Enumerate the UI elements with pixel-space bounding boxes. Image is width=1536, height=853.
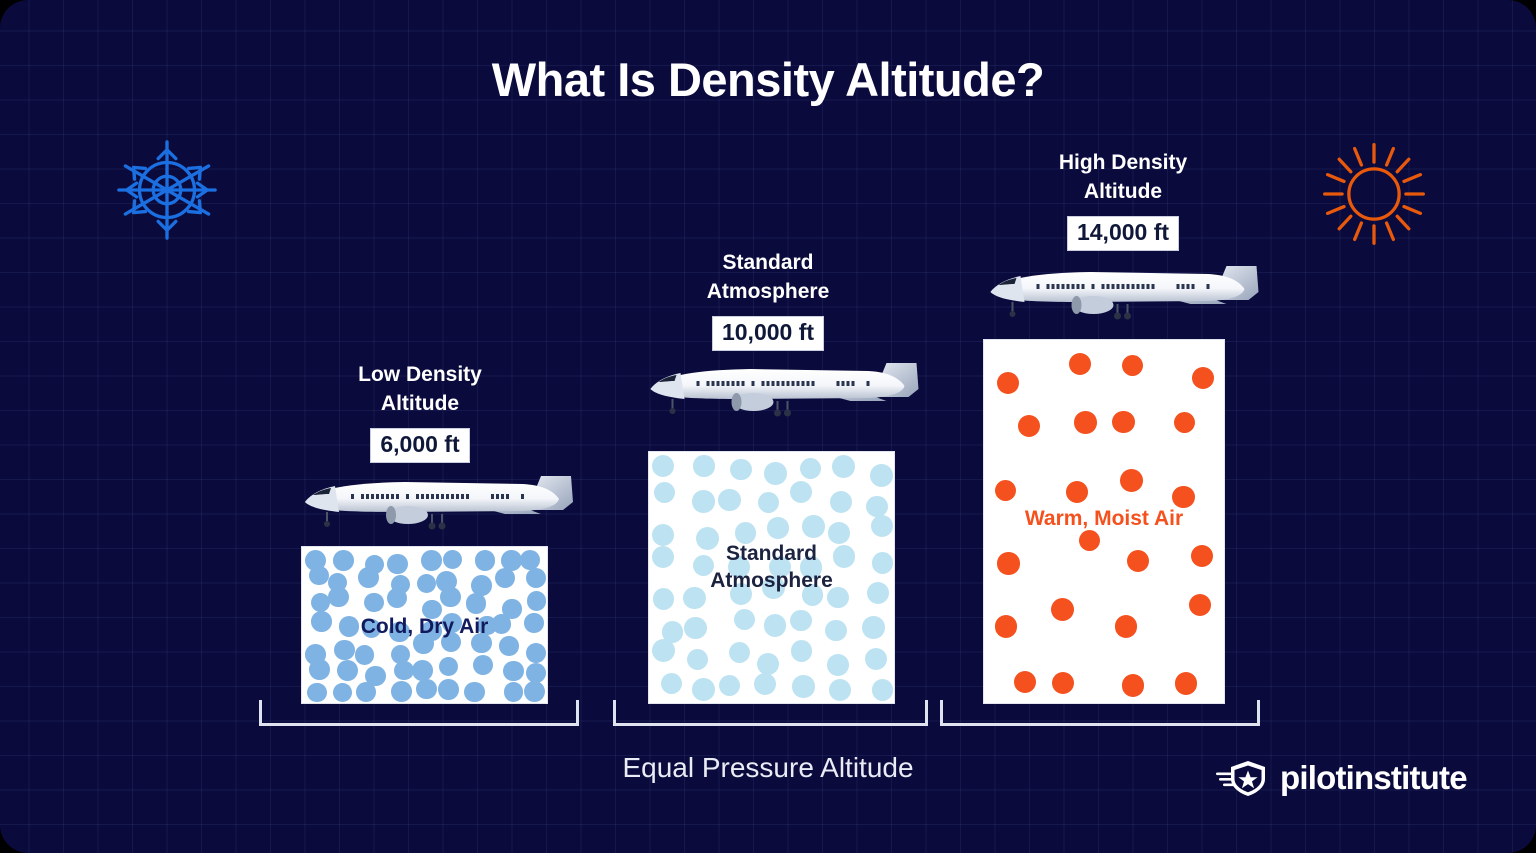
- air-molecule-dot: [337, 660, 358, 681]
- winged-shield-star-icon: [1216, 758, 1268, 798]
- air-molecule-dot: [719, 675, 740, 696]
- air-molecule-dot: [870, 464, 893, 487]
- air-molecule-dot: [417, 574, 436, 593]
- air-molecule-dot: [790, 481, 812, 503]
- logo-text: pilotinstitute: [1280, 759, 1467, 797]
- air-molecule-dot: [1175, 672, 1198, 695]
- air-molecule-dot: [729, 642, 750, 663]
- pilot-institute-logo: pilotinstitute: [1216, 758, 1467, 798]
- bracket-standard: [613, 700, 928, 726]
- air-molecule-dot: [865, 648, 887, 670]
- air-molecule-dot: [692, 678, 715, 701]
- altitude-badge-low-density: 6,000 ft: [370, 428, 469, 463]
- air-molecule-dot: [309, 566, 328, 585]
- column-standard-atmosphere: Standard Atmosphere 10,000 ft: [628, 248, 908, 351]
- air-molecule-dot: [421, 550, 442, 571]
- air-molecule-dot: [311, 593, 330, 612]
- bracket-tick-left: [613, 700, 616, 726]
- air-molecule-dot: [1127, 550, 1149, 572]
- air-molecule-dot: [387, 588, 407, 608]
- air-panel-label-low-density: Cold, Dry Air: [302, 613, 547, 640]
- bracket-tick-right: [1257, 700, 1260, 726]
- air-molecule-dot: [792, 675, 814, 697]
- air-molecule-dot: [718, 489, 740, 511]
- air-molecule-dot: [791, 640, 813, 662]
- air-molecule-dot: [830, 491, 852, 513]
- air-molecule-dot: [1014, 671, 1037, 694]
- altitude-badge-high-density: 14,000 ft: [1067, 216, 1179, 251]
- air-molecule-dot: [412, 660, 433, 681]
- air-molecule-dot: [309, 659, 330, 680]
- airplane-icon-standard: [638, 355, 928, 423]
- air-molecule-dot: [1174, 412, 1195, 433]
- air-molecule-dot: [693, 455, 714, 476]
- bracket-bar: [940, 723, 1260, 726]
- air-molecule-dot: [872, 679, 893, 700]
- air-molecule-dot: [520, 550, 540, 570]
- bracket-tick-left: [940, 700, 943, 726]
- column-heading-high-density: High Density Altitude 14,000 ft: [983, 148, 1263, 251]
- air-molecule-dot: [1066, 481, 1088, 503]
- air-molecule-dot: [1079, 530, 1100, 551]
- air-molecule-dot: [1051, 598, 1074, 621]
- air-molecule-dot: [764, 614, 786, 636]
- air-molecule-dot: [1191, 545, 1213, 567]
- air-molecule-dot: [464, 682, 484, 702]
- air-molecule-dot: [825, 620, 847, 642]
- air-molecule-dot: [1115, 615, 1138, 638]
- air-molecule-dot: [503, 661, 523, 681]
- air-molecule-dot: [443, 550, 462, 569]
- label-line-1: Warm, Moist Air: [984, 505, 1224, 532]
- air-molecule-dot: [387, 554, 408, 575]
- snowflake-icon: [108, 136, 226, 244]
- air-molecule-dot: [758, 492, 779, 513]
- air-molecule-dot: [997, 552, 1019, 574]
- air-molecule-dot: [416, 679, 437, 700]
- label-line-2: Atmosphere: [649, 567, 894, 594]
- air-molecule-dot: [767, 517, 788, 538]
- column-heading-standard: Standard Atmosphere 10,000 ft: [628, 248, 908, 351]
- air-molecule-dot: [652, 639, 675, 662]
- air-molecule-dot: [394, 661, 413, 680]
- air-molecule-dot: [800, 458, 821, 479]
- air-molecule-dot: [364, 593, 383, 612]
- air-molecule-dot: [328, 587, 349, 608]
- air-molecule-dot: [827, 654, 849, 676]
- air-panel-high-density: Warm, Moist Air: [983, 339, 1225, 704]
- column-heading-low-density: Low Density Altitude 6,000 ft: [280, 360, 560, 463]
- heading-line-1: Low Density: [280, 360, 560, 389]
- air-molecule-dot: [466, 593, 486, 613]
- air-molecule-dot: [829, 679, 851, 701]
- air-molecule-dot: [995, 615, 1018, 638]
- air-molecule-dot: [1122, 674, 1145, 697]
- column-low-density: Low Density Altitude 6,000 ft: [280, 360, 560, 463]
- air-molecule-dot: [757, 653, 779, 675]
- airplane-icon-high-density: [978, 258, 1268, 326]
- air-molecule-dot: [440, 587, 461, 608]
- air-molecule-dot: [1189, 594, 1211, 616]
- air-molecule-dot: [527, 591, 546, 610]
- air-panel-low-density: Cold, Dry Air: [301, 546, 548, 704]
- air-molecule-dot: [730, 459, 752, 481]
- air-molecule-dot: [495, 568, 515, 588]
- air-molecule-dot: [1122, 355, 1144, 377]
- altitude-badge-standard: 10,000 ft: [712, 316, 824, 351]
- heading-line-2: Altitude: [280, 389, 560, 418]
- air-panel-label-standard: Standard Atmosphere: [649, 540, 894, 595]
- heading-line-1: Standard: [628, 248, 908, 277]
- air-molecule-dot: [1052, 672, 1074, 694]
- air-molecule-dot: [334, 640, 355, 661]
- air-molecule-dot: [1120, 469, 1143, 492]
- air-molecule-dot: [358, 567, 379, 588]
- air-molecule-dot: [734, 609, 756, 631]
- air-molecule-dot: [997, 372, 1019, 394]
- air-molecule-dot: [524, 681, 545, 702]
- air-panel-standard: Standard Atmosphere: [648, 451, 895, 704]
- air-molecule-dot: [862, 616, 885, 639]
- heading-line-2: Atmosphere: [628, 277, 908, 306]
- air-molecule-dot: [684, 617, 707, 640]
- bracket-low-density: [259, 700, 579, 726]
- air-molecule-dot: [1069, 353, 1091, 375]
- air-molecule-dot: [790, 610, 812, 632]
- bracket-bar: [613, 723, 928, 726]
- sun-icon: [1316, 140, 1432, 248]
- air-molecule-dot: [687, 649, 708, 670]
- air-molecule-dot: [764, 462, 787, 485]
- air-molecule-dot: [754, 673, 776, 695]
- label-line-1: Standard: [649, 540, 894, 567]
- heading-line-2: Altitude: [983, 177, 1263, 206]
- air-molecule-dot: [355, 645, 374, 664]
- air-molecule-dot: [526, 643, 546, 663]
- air-molecule-dot: [1112, 411, 1134, 433]
- heading-line-1: High Density: [983, 148, 1263, 177]
- air-molecule-dot: [995, 480, 1016, 501]
- label-line-1: Cold, Dry Air: [302, 613, 547, 640]
- bracket-tick-right: [576, 700, 579, 726]
- page-title: What Is Density Altitude?: [0, 52, 1536, 107]
- air-molecule-dot: [652, 455, 674, 477]
- air-molecule-dot: [475, 550, 496, 571]
- air-molecule-dot: [526, 568, 546, 588]
- air-molecule-dot: [1074, 411, 1097, 434]
- infographic-canvas: What Is Density Altitude?: [0, 0, 1536, 853]
- bracket-tick-right: [925, 700, 928, 726]
- air-molecule-dot: [1192, 367, 1214, 389]
- air-molecule-dot: [391, 681, 412, 702]
- airplane-icon-low-density: [295, 468, 580, 536]
- air-molecule-dot: [1018, 415, 1040, 437]
- column-high-density: High Density Altitude 14,000 ft: [983, 148, 1263, 251]
- air-molecule-dot: [439, 657, 458, 676]
- air-molecule-dot: [866, 496, 888, 518]
- air-molecule-dot: [802, 515, 824, 537]
- air-molecule-dot: [871, 515, 893, 537]
- bracket-high-density: [940, 700, 1260, 726]
- air-molecule-dot: [661, 673, 682, 694]
- air-molecule-dot: [333, 550, 354, 571]
- air-molecule-dot: [438, 679, 459, 700]
- bracket-tick-left: [259, 700, 262, 726]
- bracket-bar: [259, 723, 579, 726]
- air-molecule-dot: [473, 655, 493, 675]
- air-molecule-dot: [832, 455, 855, 478]
- air-molecule-dot: [654, 482, 675, 503]
- air-panel-label-high-density: Warm, Moist Air: [984, 505, 1224, 532]
- air-molecule-dot: [692, 490, 715, 513]
